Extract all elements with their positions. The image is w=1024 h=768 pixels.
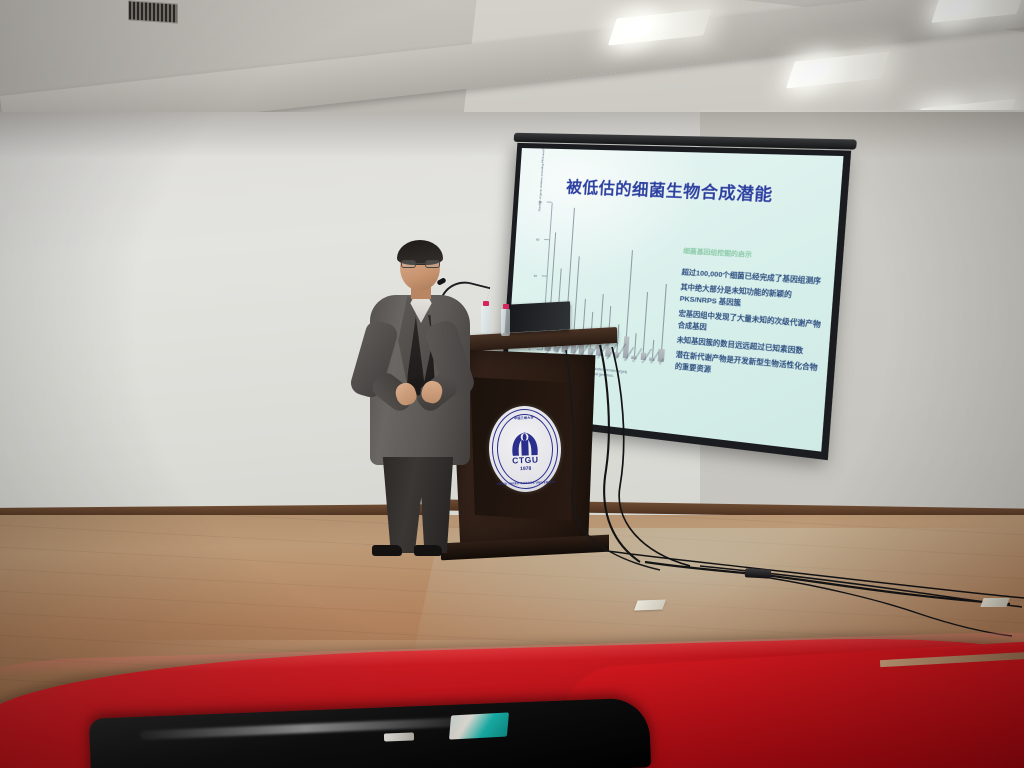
cable-connector-box: [745, 568, 771, 578]
foreground-object-label: [449, 712, 509, 739]
paper-on-floor-1: [634, 600, 666, 611]
paper-on-floor-2: [980, 598, 1009, 607]
foreground-object-tab: [384, 732, 414, 741]
lecture-photo-scene: 被低估的细菌生物合成潜能 Number of gene clusters enc…: [0, 0, 1024, 768]
